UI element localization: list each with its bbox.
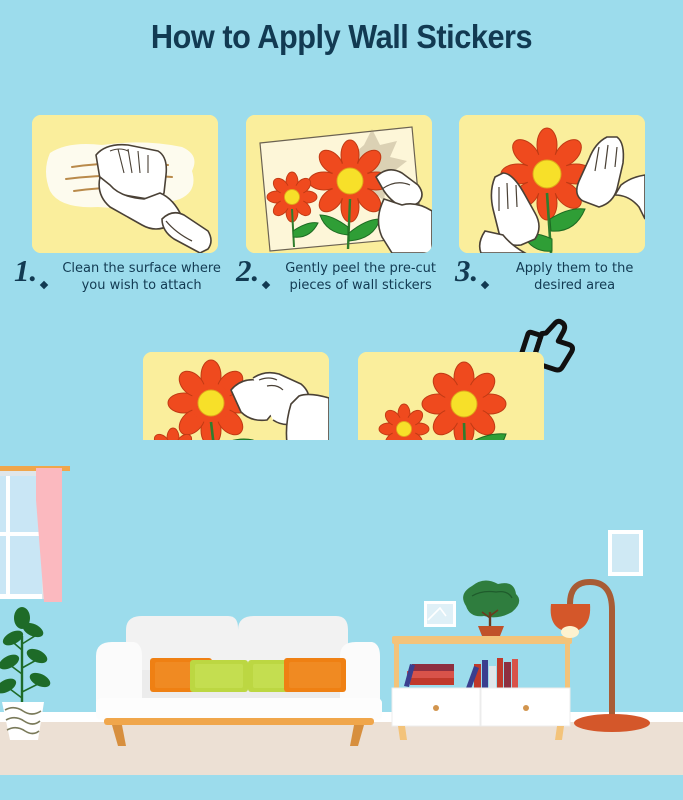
wall-picture-frame bbox=[608, 530, 643, 576]
step-text-2: Gently peel the pre-cut pieces of wall s… bbox=[275, 260, 446, 294]
illustration-apply-sticker bbox=[459, 115, 645, 253]
window-with-pink-curtain bbox=[0, 466, 70, 602]
books-stack bbox=[404, 664, 454, 687]
step-panel-2 bbox=[246, 115, 432, 253]
step-dot-2 bbox=[262, 281, 270, 289]
step-text-1: Clean the surface where you wish to atta… bbox=[53, 260, 230, 294]
step-caption-1: 1. Clean the surface where you wish to a… bbox=[14, 260, 230, 294]
page-title: How to Apply Wall Stickers bbox=[24, 18, 659, 56]
infographic-canvas: How to Apply Wall Stickers 1. Clean the … bbox=[0, 0, 683, 800]
step-caption-2: 2. Gently peel the pre-cut pieces of wal… bbox=[236, 260, 446, 294]
room-scene bbox=[0, 440, 683, 800]
step-caption-3: 3. Apply them to the desired area bbox=[455, 260, 655, 294]
picture-frame-small bbox=[424, 601, 456, 627]
step-number-3: 3. bbox=[455, 256, 478, 286]
step-dot-1 bbox=[40, 281, 48, 289]
step-number-2: 2. bbox=[236, 256, 259, 286]
step-dot-3 bbox=[481, 281, 489, 289]
step-number-1: 1. bbox=[14, 256, 37, 286]
illustration-peel-sticker bbox=[246, 115, 432, 253]
illustration-clean-surface bbox=[32, 115, 218, 253]
step-panel-1 bbox=[32, 115, 218, 253]
step-panel-3 bbox=[459, 115, 645, 253]
step-text-3: Apply them to the desired area bbox=[494, 260, 655, 294]
